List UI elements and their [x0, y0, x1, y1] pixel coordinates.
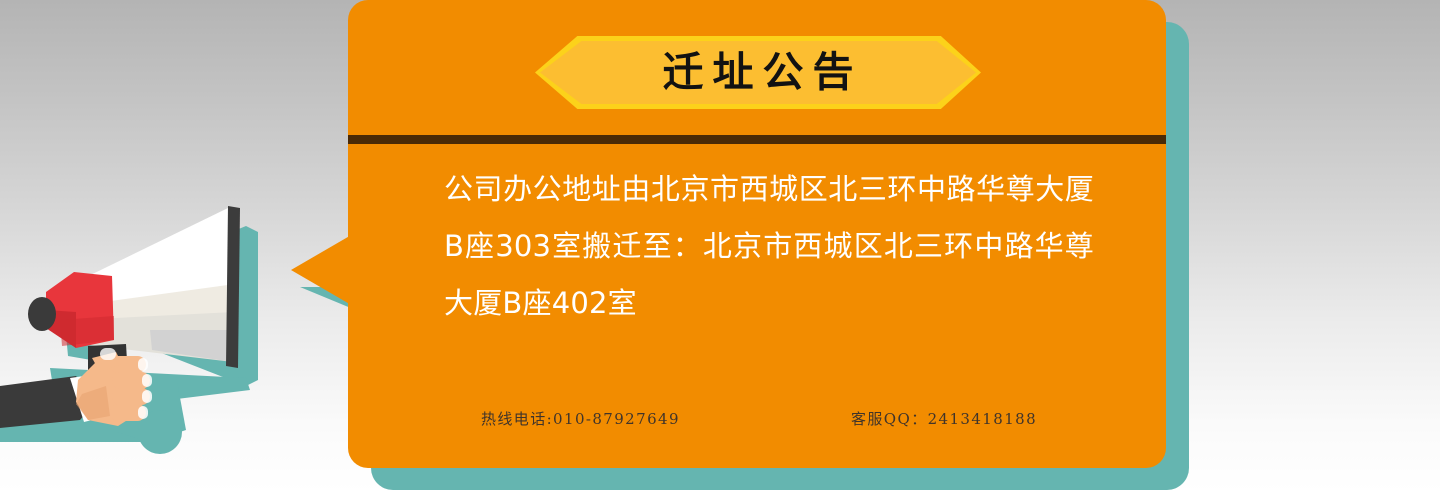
page-title: 迁址公告 — [535, 36, 981, 109]
header-divider — [348, 135, 1166, 144]
announcement-banner-canvas: 迁址公告 公司办公地址由北京市西城区北三环中路华尊大厦B座303室搬迁至：北京市… — [0, 0, 1440, 492]
contact-footer: 热线电话:010-87927649 客服QQ：2413418188 — [348, 408, 1166, 438]
megaphone-cap — [28, 297, 56, 331]
hotline-text: 热线电话:010-87927649 — [481, 408, 680, 429]
speech-tail — [291, 234, 353, 306]
announcement-card: 迁址公告 公司办公地址由北京市西城区北三环中路华尊大厦B座303室搬迁至：北京市… — [348, 0, 1166, 468]
megaphone-neck — [46, 272, 114, 348]
announcement-body: 公司办公地址由北京市西城区北三环中路华尊大厦B座303室搬迁至：北京市西城区北三… — [444, 161, 1094, 332]
megaphone-illustration — [0, 180, 300, 492]
hand — [76, 348, 152, 426]
megaphone-rim — [226, 206, 240, 368]
title-banner: 迁址公告 — [535, 36, 981, 109]
qq-text: 客服QQ：2413418188 — [851, 408, 1037, 429]
